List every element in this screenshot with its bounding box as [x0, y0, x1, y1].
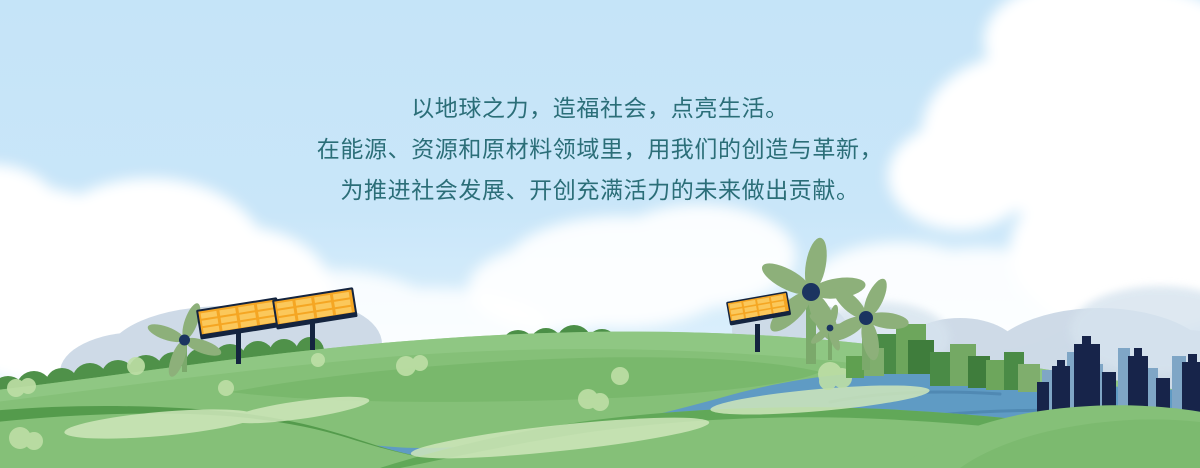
solar-panel-post [236, 330, 241, 364]
solar-panel-post [755, 324, 760, 352]
turbine-hub [827, 325, 834, 332]
turbine-hub [179, 335, 190, 346]
illustration-scene [0, 0, 1200, 468]
turbine-hub [802, 283, 820, 301]
eco-hero-banner: 以地球之力，造福社会，点亮生活。 在能源、资源和原材料领域里，用我们的创造与革新… [0, 0, 1200, 468]
turbine-hub [859, 311, 873, 325]
